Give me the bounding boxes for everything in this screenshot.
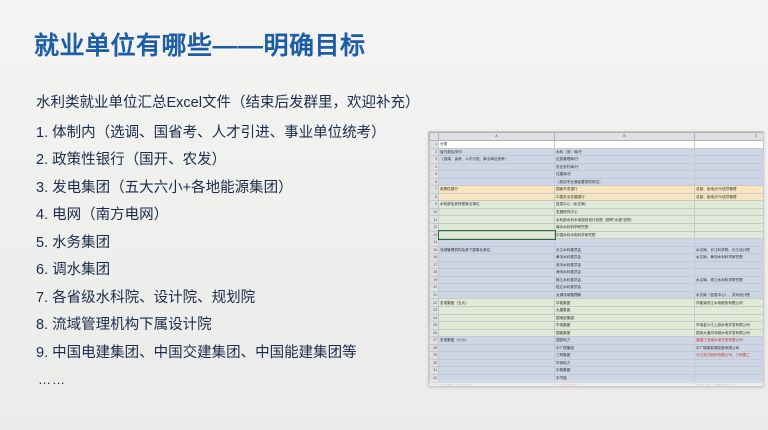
cell-a-4[interactable] — [439, 163, 555, 171]
page-title: 就业单位有哪些——明确目标 — [34, 32, 534, 61]
table-row: 10发展研究中心 — [430, 208, 765, 216]
list-item: 2. 政策性银行（国开、农发） — [36, 153, 428, 168]
table-row: 11水利部水利水电规划设计总院（原称“水规”总院） — [430, 216, 765, 224]
cell-a-15[interactable]: 流域管理机构及其下属事业单位 — [439, 246, 555, 254]
sheet-corner-box — [430, 133, 439, 141]
list-item: 7. 各省级水科院、设计院、规划院 — [36, 291, 428, 306]
table-row: 25华电集团华电金沙江上游水电开发有限公司 — [430, 322, 765, 330]
spreadsheet-body: 1分类2省行政区序列水利（务）局/厅3（选调、省考、人才引进、事业单位统考）应急… — [430, 141, 765, 388]
table-row: 2省行政区序列水利（务）局/厅 — [430, 148, 765, 156]
cell-a-31[interactable] — [439, 367, 555, 375]
row-number: 27 — [430, 337, 439, 345]
row-number: 13 — [430, 231, 439, 239]
cell-c-28[interactable]: 中广核新能源控股有限公司 — [695, 344, 765, 352]
cell-b-5[interactable]: 住建局/厅 — [555, 171, 695, 179]
table-row: 19珠江水利委员会水文局、珠江水利科学研究院 — [430, 276, 765, 284]
cell-a-1[interactable]: 分类 — [439, 141, 555, 149]
table-row: 18海河水利委员会 — [430, 269, 765, 277]
column-header-a: A — [439, 133, 555, 141]
title-text: 就业单位有哪些——明确目标 — [34, 32, 534, 61]
column-header-b: B — [555, 133, 695, 141]
cell-b-31[interactable]: 中核集团 — [555, 367, 695, 375]
cell-a-2[interactable]: 省行政区序列 — [439, 148, 555, 156]
excel-spreadsheet-image: A B C 1分类2省行政区序列水利（务）局/厅3（选调、省考、人才引进、事业单… — [428, 131, 764, 387]
cell-b-3[interactable]: 应急管理局/厅 — [555, 156, 695, 164]
row-number: 28 — [430, 344, 439, 352]
cell-b-14[interactable] — [555, 239, 695, 247]
cell-a-6[interactable] — [439, 178, 555, 186]
content-list: 水利类就业单位汇总Excel文件（结束后发群里，欢迎补充） 1. 体制内（选调、… — [36, 96, 428, 399]
cell-b-24[interactable]: 国电投集团 — [555, 314, 695, 322]
cell-c-26[interactable]: 国电大渡河流域水电开发有限公司 — [695, 329, 765, 337]
cell-c-1[interactable] — [695, 141, 765, 149]
cell-c-6[interactable] — [695, 178, 765, 186]
cell-b-6[interactable]: （其实专业满足要求的岗位） — [555, 178, 695, 186]
table-row: 23大唐集团 — [430, 307, 765, 315]
cell-b-11[interactable]: 水利部水利水电规划设计总院（原称“水规”总院） — [555, 216, 695, 224]
intro-line: 水利类就业单位汇总Excel文件（结束后发群里，欢迎补充） — [36, 96, 428, 111]
cell-b-26[interactable]: 国能集团 — [555, 329, 695, 337]
list-item: 1. 体制内（选调、国省考、人才引进、事业单位统考） — [36, 126, 428, 141]
table-row: 12南京水利科学研究院 — [430, 224, 765, 232]
cell-c-31[interactable] — [695, 367, 765, 375]
cell-b-7[interactable]: 国家开发银行 — [555, 186, 695, 194]
cell-a-5[interactable] — [439, 171, 555, 179]
table-row: 24国电投集团 — [430, 314, 765, 322]
row-number: 30 — [430, 359, 439, 367]
row-number: 18 — [430, 269, 439, 277]
cell-a-12[interactable] — [439, 224, 555, 232]
row-number: 29 — [430, 352, 439, 360]
cell-c-3[interactable] — [695, 156, 765, 164]
row-number: 31 — [430, 367, 439, 375]
cell-c-14[interactable] — [695, 239, 765, 247]
cell-a-27[interactable]: 发电集团（六小） — [439, 337, 555, 345]
cell-a-21[interactable] — [439, 291, 555, 299]
table-row: 16黄河水利委员会水文局、黄河水利科学研究院 — [430, 254, 765, 262]
spreadsheet-table: A B C 1分类2省行政区序列水利（务）局/厅3（选调、省考、人才引进、事业单… — [429, 132, 764, 387]
cell-b-21[interactable]: 太湖流域管理局 — [555, 291, 695, 299]
table-row: 13中国水利水电科学研究院 — [430, 231, 765, 239]
cell-c-9[interactable] — [695, 201, 765, 209]
list-item: 4. 电网（南方电网） — [36, 208, 428, 223]
excel-sheet-area: A B C 1分类2省行政区序列水利（务）局/厅3（选调、省考、人才引进、事业单… — [429, 132, 763, 386]
cell-b-27[interactable]: 国投电力 — [555, 337, 695, 345]
row-number: 8 — [430, 193, 439, 201]
cell-c-23[interactable] — [695, 307, 765, 315]
cell-a-16[interactable] — [439, 254, 555, 262]
cell-c-16[interactable]: 水文局、黄河水利科学研究院 — [695, 254, 765, 262]
row-number: 5 — [430, 171, 439, 179]
table-row: 1分类 — [430, 141, 765, 149]
table-row: 30华润电力 — [430, 359, 765, 367]
cell-c-24[interactable] — [695, 314, 765, 322]
cell-c-21[interactable]: 水文局（信息中心）、苏州设计院 — [695, 291, 765, 299]
table-row: 31中核集团 — [430, 367, 765, 375]
row-number: 10 — [430, 208, 439, 216]
cell-b-29[interactable]: 三峡集团 — [555, 352, 695, 360]
list-item: 5. 水务集团 — [36, 236, 428, 251]
table-row: 27发电集团（六小）国投电力雅砻江流域水电开发有限公司 — [430, 337, 765, 345]
row-number: 7 — [430, 186, 439, 194]
cell-b-2[interactable]: 水利（务）局/厅 — [555, 148, 695, 156]
cell-c-20[interactable] — [695, 284, 765, 292]
cell-b-13[interactable]: 中国水利水电科学研究院 — [555, 231, 695, 239]
cell-c-30[interactable] — [695, 359, 765, 367]
row-number: 17 — [430, 261, 439, 269]
cell-b-16[interactable]: 黄河水利委员会 — [555, 254, 695, 262]
row-number: 19 — [430, 276, 439, 284]
sheet-bottom-fade — [429, 380, 763, 386]
row-number: 12 — [430, 224, 439, 232]
cell-c-17[interactable] — [695, 261, 765, 269]
cell-b-20[interactable]: 松辽水利委员会 — [555, 284, 695, 292]
cell-a-29[interactable] — [439, 352, 555, 360]
cell-a-24[interactable] — [439, 314, 555, 322]
cell-c-8[interactable]: 总部、各地分行/信贷管理 — [695, 193, 765, 201]
cell-b-8[interactable]: 中国农业发展银行 — [555, 193, 695, 201]
cell-a-22[interactable]: 发电集团（五大） — [439, 299, 555, 307]
row-number: 15 — [430, 246, 439, 254]
table-row: 20松辽水利委员会 — [430, 284, 765, 292]
list-item: 3. 发电集团（五大六小+各地能源集团） — [36, 181, 428, 196]
cell-b-25[interactable]: 华电集团 — [555, 322, 695, 330]
row-number: 23 — [430, 307, 439, 315]
cell-b-1[interactable] — [555, 141, 695, 149]
table-row: 7政策性银行国家开发银行总部、各地分行/信贷管理 — [430, 186, 765, 194]
table-row: 5住建局/厅 — [430, 171, 765, 179]
cell-c-15[interactable]: 水文局、长江科学院、长江设计院 — [695, 246, 765, 254]
cell-a-17[interactable] — [439, 261, 555, 269]
table-row: 3（选调、省考、人才引进、事业单位统考）应急管理局/厅 — [430, 156, 765, 164]
row-number: 26 — [430, 329, 439, 337]
table-row: 8中国农业发展银行总部、各地分行/信贷管理 — [430, 193, 765, 201]
table-row: 22发电集团（五大）华能集团华能澜沧江水电股份有限公司 — [430, 299, 765, 307]
row-number: 2 — [430, 148, 439, 156]
cell-a-8[interactable] — [439, 193, 555, 201]
table-row: 9水利部及其所属事业单位信息中心（水文局） — [430, 201, 765, 209]
cell-a-26[interactable] — [439, 329, 555, 337]
cell-b-10[interactable]: 发展研究中心 — [555, 208, 695, 216]
table-row: 29三峡集团长江电力股份有限公司、三峡建工 — [430, 352, 765, 360]
row-number: 4 — [430, 163, 439, 171]
cell-a-18[interactable] — [439, 269, 555, 277]
cell-c-5[interactable] — [695, 171, 765, 179]
row-number: 6 — [430, 178, 439, 186]
row-number: 3 — [430, 156, 439, 164]
cell-a-10[interactable] — [439, 208, 555, 216]
row-number: 24 — [430, 314, 439, 322]
cell-b-15[interactable]: 长江水利委员会 — [555, 246, 695, 254]
table-row: 17淮河水利委员会 — [430, 261, 765, 269]
column-header-row: A B C — [430, 133, 765, 141]
row-number: 20 — [430, 284, 439, 292]
table-row: 6（其实专业满足要求的岗位） — [430, 178, 765, 186]
column-header-c: C — [695, 133, 765, 141]
row-number: 9 — [430, 201, 439, 209]
cell-c-7[interactable]: 总部、各地分行/信贷管理 — [695, 186, 765, 194]
cell-b-30[interactable]: 华润电力 — [555, 359, 695, 367]
cell-c-2[interactable] — [695, 148, 765, 156]
cell-a-13[interactable] — [439, 231, 555, 239]
row-number: 11 — [430, 216, 439, 224]
cell-b-19[interactable]: 珠江水利委员会 — [555, 276, 695, 284]
cell-c-25[interactable]: 华电金沙江上游水电开发有限公司 — [695, 322, 765, 330]
list-item: 8. 流域管理机构下属设计院 — [36, 318, 428, 333]
cell-b-28[interactable]: 中广核集团 — [555, 344, 695, 352]
cell-c-10[interactable] — [695, 208, 765, 216]
cell-b-18[interactable]: 海河水利委员会 — [555, 269, 695, 277]
cell-c-13[interactable] — [695, 231, 765, 239]
row-number: 16 — [430, 254, 439, 262]
cell-b-17[interactable]: 淮河水利委员会 — [555, 261, 695, 269]
table-row: 15流域管理机构及其下属事业单位长江水利委员会水文局、长江科学院、长江设计院 — [430, 246, 765, 254]
row-number: 1 — [430, 141, 439, 149]
table-row: 14 — [430, 239, 765, 247]
cell-c-22[interactable]: 华能澜沧江水电股份有限公司 — [695, 299, 765, 307]
row-number: 25 — [430, 322, 439, 330]
cell-a-30[interactable] — [439, 359, 555, 367]
cell-a-7[interactable]: 政策性银行 — [439, 186, 555, 194]
cell-c-4[interactable] — [695, 163, 765, 171]
cell-a-11[interactable] — [439, 216, 555, 224]
row-number: 14 — [430, 239, 439, 247]
table-row: 21太湖流域管理局水文局（信息中心）、苏州设计院 — [430, 291, 765, 299]
cell-c-12[interactable] — [695, 224, 765, 232]
cell-b-4[interactable]: 农业农村局/厅 — [555, 163, 695, 171]
cell-b-23[interactable]: 大唐集团 — [555, 307, 695, 315]
cell-a-23[interactable] — [439, 307, 555, 315]
cell-b-22[interactable]: 华能集团 — [555, 299, 695, 307]
cell-c-27[interactable]: 雅砻江流域水电开发有限公司 — [695, 337, 765, 345]
list-item: 6. 调水集团 — [36, 263, 428, 278]
table-row: 26国能集团国电大渡河流域水电开发有限公司 — [430, 329, 765, 337]
row-number: 22 — [430, 299, 439, 307]
cell-c-19[interactable]: 水文局、珠江水利科学研究院 — [695, 276, 765, 284]
cell-a-3[interactable]: （选调、省考、人才引进、事业单位统考） — [439, 156, 555, 164]
cell-a-14[interactable] — [439, 239, 555, 247]
cell-a-25[interactable] — [439, 322, 555, 330]
table-row: 28中广核集团中广核新能源控股有限公司 — [430, 344, 765, 352]
row-number: 21 — [430, 291, 439, 299]
cell-c-11[interactable] — [695, 216, 765, 224]
list-item: 9. 中国电建集团、中国交建集团、中国能建集团等 — [36, 346, 428, 361]
cell-a-28[interactable] — [439, 344, 555, 352]
cell-b-12[interactable]: 南京水利科学研究院 — [555, 224, 695, 232]
presentation-slide: 就业单位有哪些——明确目标 水利类就业单位汇总Excel文件（结束后发群里，欢迎… — [0, 0, 768, 430]
cell-b-9[interactable]: 信息中心（水文局） — [555, 201, 695, 209]
cell-c-18[interactable] — [695, 269, 765, 277]
cell-a-20[interactable] — [439, 284, 555, 292]
cell-a-9[interactable]: 水利部及其所属事业单位 — [439, 201, 555, 209]
cell-c-29[interactable]: 长江电力股份有限公司、三峡建工 — [695, 352, 765, 360]
ellipsis-line: …… — [36, 373, 428, 386]
cell-a-19[interactable] — [439, 276, 555, 284]
table-row: 4农业农村局/厅 — [430, 163, 765, 171]
